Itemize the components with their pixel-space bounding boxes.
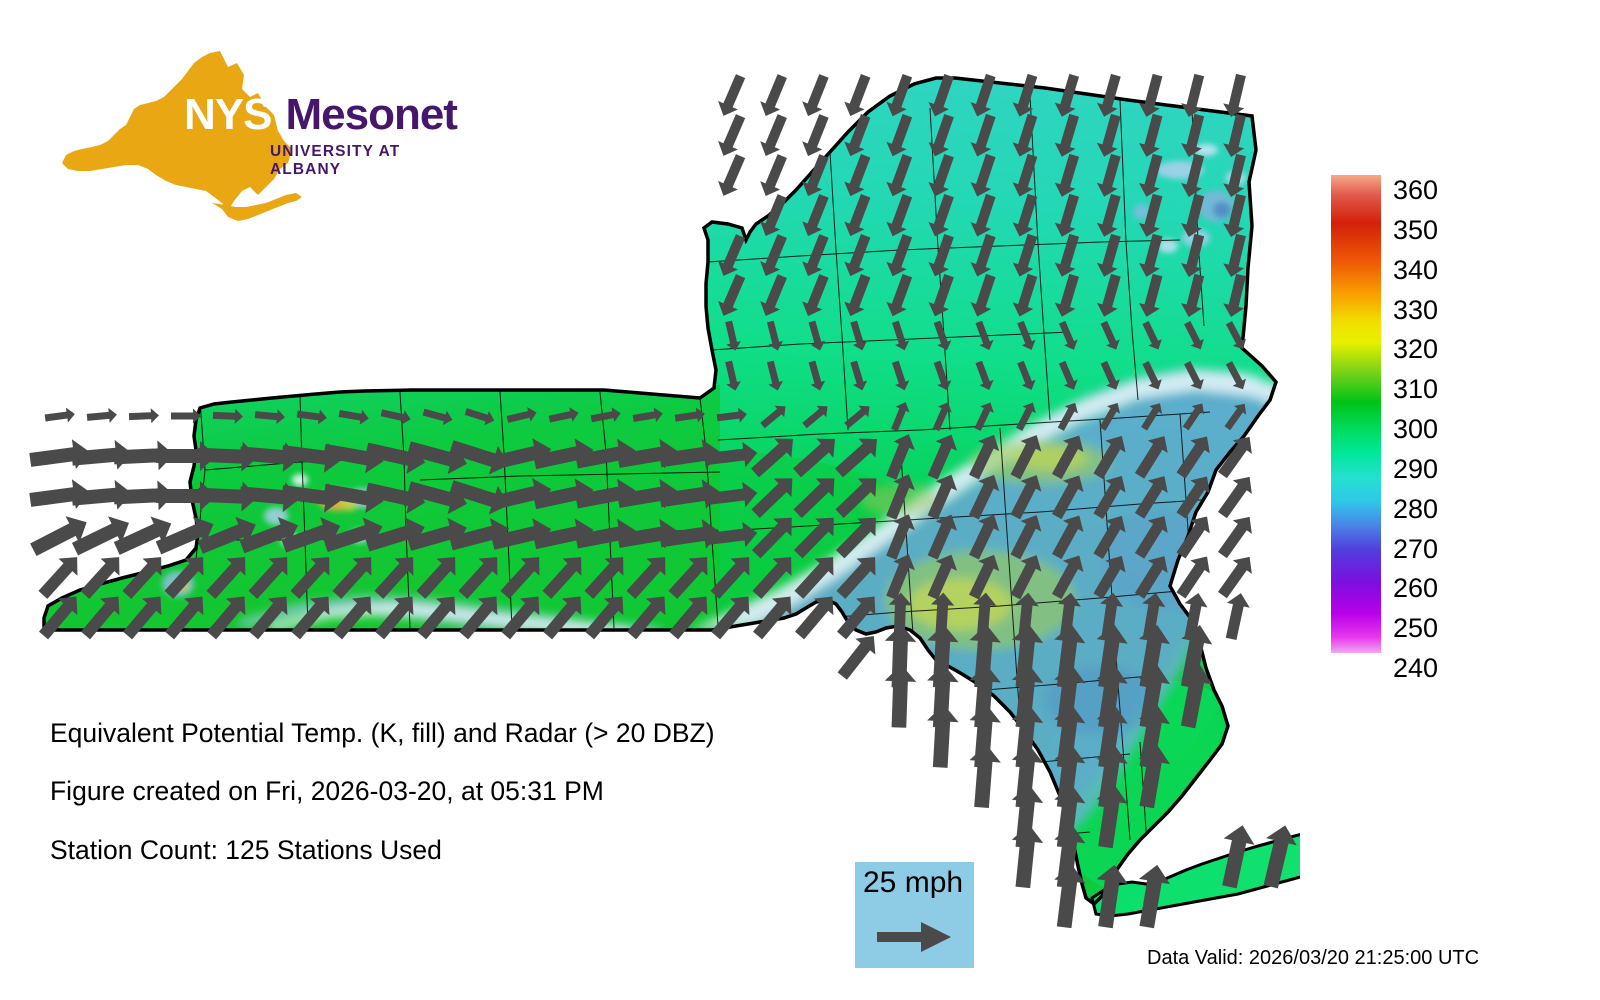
colorbar-tick-260: 260	[1393, 575, 1438, 602]
colorbar-tick-360: 360	[1393, 177, 1438, 204]
wind-arrow	[1213, 550, 1259, 602]
wind-scale-label: 25 mph	[863, 866, 963, 900]
colorbar-tick-280: 280	[1393, 496, 1438, 523]
colorbar-tick-310: 310	[1393, 376, 1438, 403]
colorbar-tick-300: 300	[1393, 416, 1438, 443]
wind-scale-legend: 25 mph	[855, 862, 974, 968]
wind-arrow	[1220, 591, 1253, 642]
wind-arrow	[1213, 510, 1259, 562]
colorbar: 360350340330320310300290280270260250240	[1331, 175, 1511, 655]
colorbar-tick-labels: 360350340330320310300290280270260250240	[1393, 175, 1513, 653]
wind-arrow	[1213, 470, 1259, 522]
colorbar-tick-270: 270	[1393, 536, 1438, 563]
wind-arrow	[756, 152, 792, 200]
data-valid-timestamp: Data Valid: 2026/03/20 21:25:00 UTC	[1147, 947, 1479, 970]
wind-arrow	[44, 407, 76, 426]
wind-arrow	[966, 743, 1002, 808]
wind-arrow	[26, 509, 93, 563]
colorbar-gradient	[1331, 175, 1381, 653]
wind-arrow	[129, 408, 160, 424]
wind-arrow	[714, 112, 751, 160]
wind-arrow	[714, 72, 751, 120]
colorbar-tick-290: 290	[1393, 456, 1438, 483]
wind-arrow	[756, 112, 792, 160]
colorbar-tick-350: 350	[1393, 217, 1438, 244]
colorbar-tick-250: 250	[1393, 615, 1438, 642]
wind-arrow	[86, 407, 117, 425]
colorbar-tick-320: 320	[1393, 336, 1438, 363]
colorbar-tick-330: 330	[1393, 297, 1438, 324]
wind-arrow	[756, 72, 792, 120]
wind-arrow	[1007, 823, 1045, 889]
caption-title: Equivalent Potential Temp. (K, fill) and…	[50, 718, 950, 748]
wind-arrow-icon	[877, 920, 953, 954]
colorbar-tick-340: 340	[1393, 257, 1438, 284]
wind-arrow	[832, 628, 884, 684]
wind-arrow	[798, 72, 834, 120]
caption-block: Equivalent Potential Temp. (K, fill) and…	[50, 718, 950, 893]
colorbar-tick-240: 240	[1393, 655, 1438, 682]
wind-arrow	[714, 152, 751, 200]
caption-station-count: Station Count: 125 Stations Used	[50, 835, 950, 865]
caption-created: Figure created on Fri, 2026-03-20, at 05…	[50, 776, 950, 806]
